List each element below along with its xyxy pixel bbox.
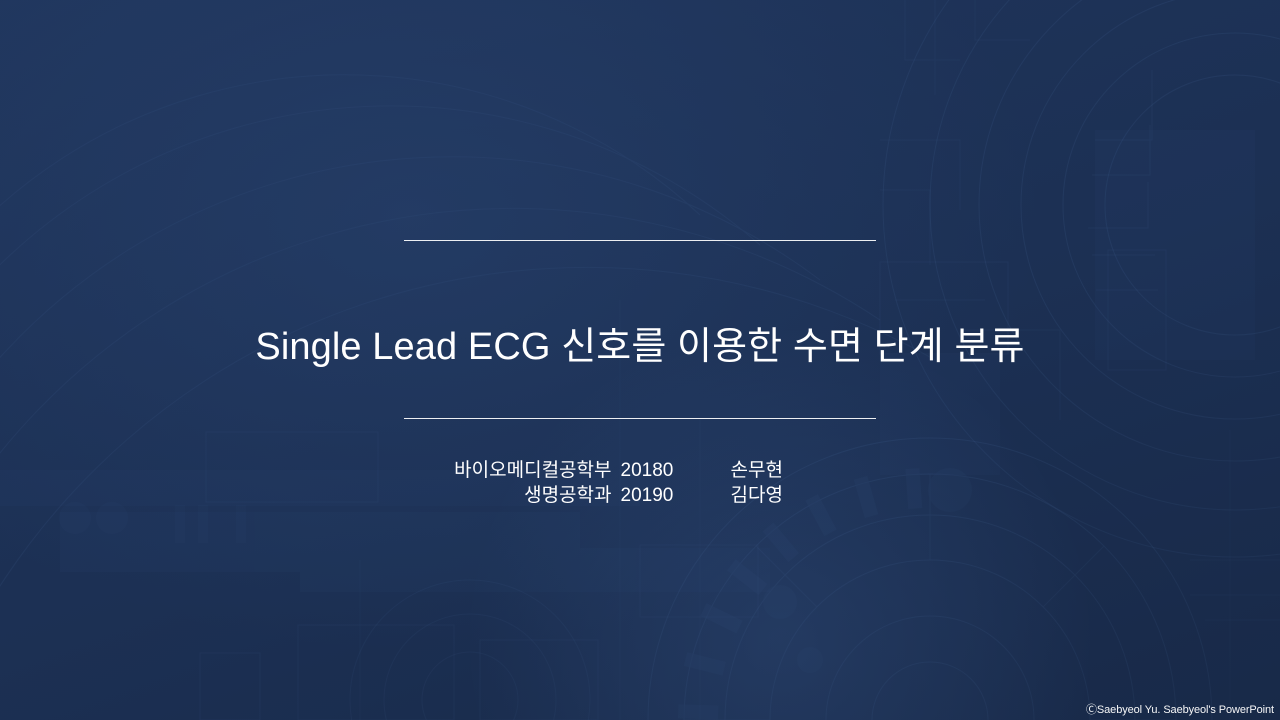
author-name: 손무현 [687, 458, 849, 483]
presentation-slide: Single Lead ECG 신호를 이용한 수면 단계 분류 바이오메디컬공… [0, 0, 1280, 720]
slide-title: Single Lead ECG 신호를 이용한 수면 단계 분류 [0, 324, 1280, 372]
author-student-id: 20190 [621, 483, 687, 508]
title-divider-bottom [404, 418, 876, 419]
author-row: 바이오메디컬공학부 20180 손무현 [0, 458, 1280, 483]
author-block: 바이오메디컬공학부 20180 손무현 생명공학과 20190 김다영 [0, 458, 1280, 508]
watermark-credit: ⒸSaebyeol Yu. Saebyeol's PowerPoint [1086, 701, 1274, 717]
slide-content: Single Lead ECG 신호를 이용한 수면 단계 분류 바이오메디컬공… [0, 0, 1280, 720]
author-student-id: 20180 [621, 458, 687, 483]
author-department: 생명공학과 [432, 483, 621, 508]
author-row: 생명공학과 20190 김다영 [0, 483, 1280, 508]
title-divider-top [404, 240, 876, 241]
author-department: 바이오메디컬공학부 [432, 458, 621, 483]
author-name: 김다영 [687, 483, 849, 508]
